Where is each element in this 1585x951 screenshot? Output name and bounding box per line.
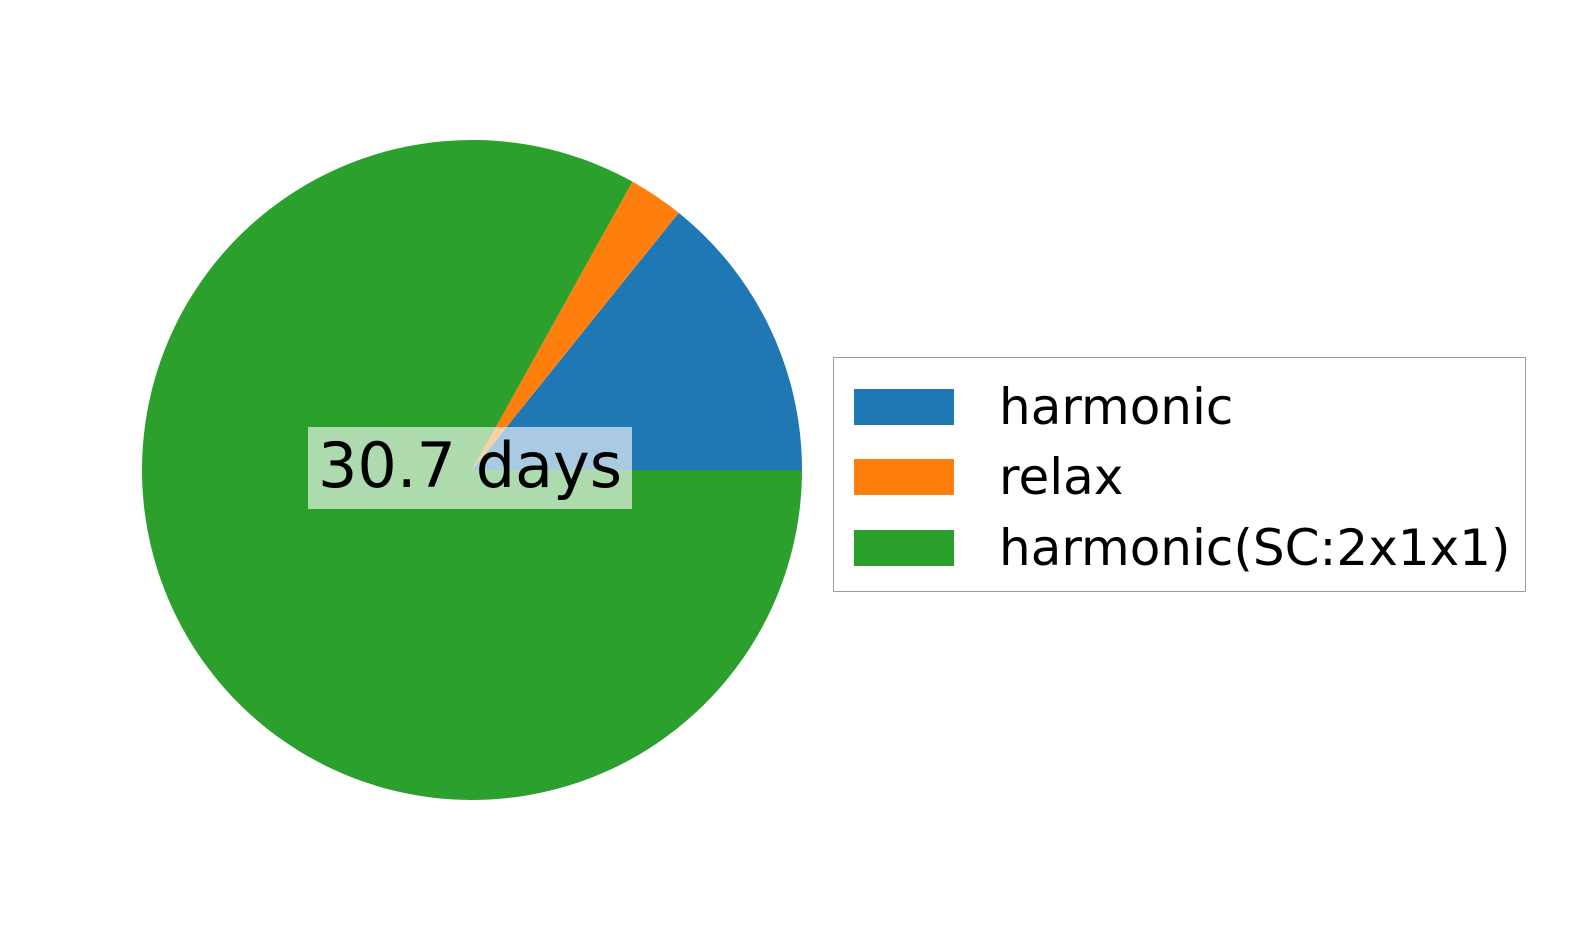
legend-label-relax: relax bbox=[999, 452, 1123, 502]
legend-swatch-icon-relax bbox=[854, 459, 954, 495]
legend-entry-harmonic-sc[interactable]: harmonic(SC:2x1x1) bbox=[854, 513, 1517, 583]
legend-swatch-icon-harmonic-sc bbox=[854, 530, 954, 566]
legend-label-harmonic: harmonic bbox=[999, 382, 1233, 432]
pie-slice-group bbox=[142, 140, 802, 800]
figure-canvas: 30.7 days harmonic relax harmonic(SC:2x1… bbox=[0, 0, 1585, 951]
legend-swatch-icon-harmonic bbox=[854, 389, 954, 425]
pie-svg bbox=[142, 140, 802, 800]
legend-entry-harmonic[interactable]: harmonic bbox=[854, 372, 1517, 442]
legend: harmonic relax harmonic(SC:2x1x1) bbox=[833, 357, 1526, 592]
legend-label-harmonic-sc: harmonic(SC:2x1x1) bbox=[999, 523, 1511, 573]
pie-chart: 30.7 days bbox=[142, 140, 802, 800]
legend-items: harmonic relax harmonic(SC:2x1x1) bbox=[854, 372, 1517, 583]
legend-entry-relax[interactable]: relax bbox=[854, 442, 1517, 512]
